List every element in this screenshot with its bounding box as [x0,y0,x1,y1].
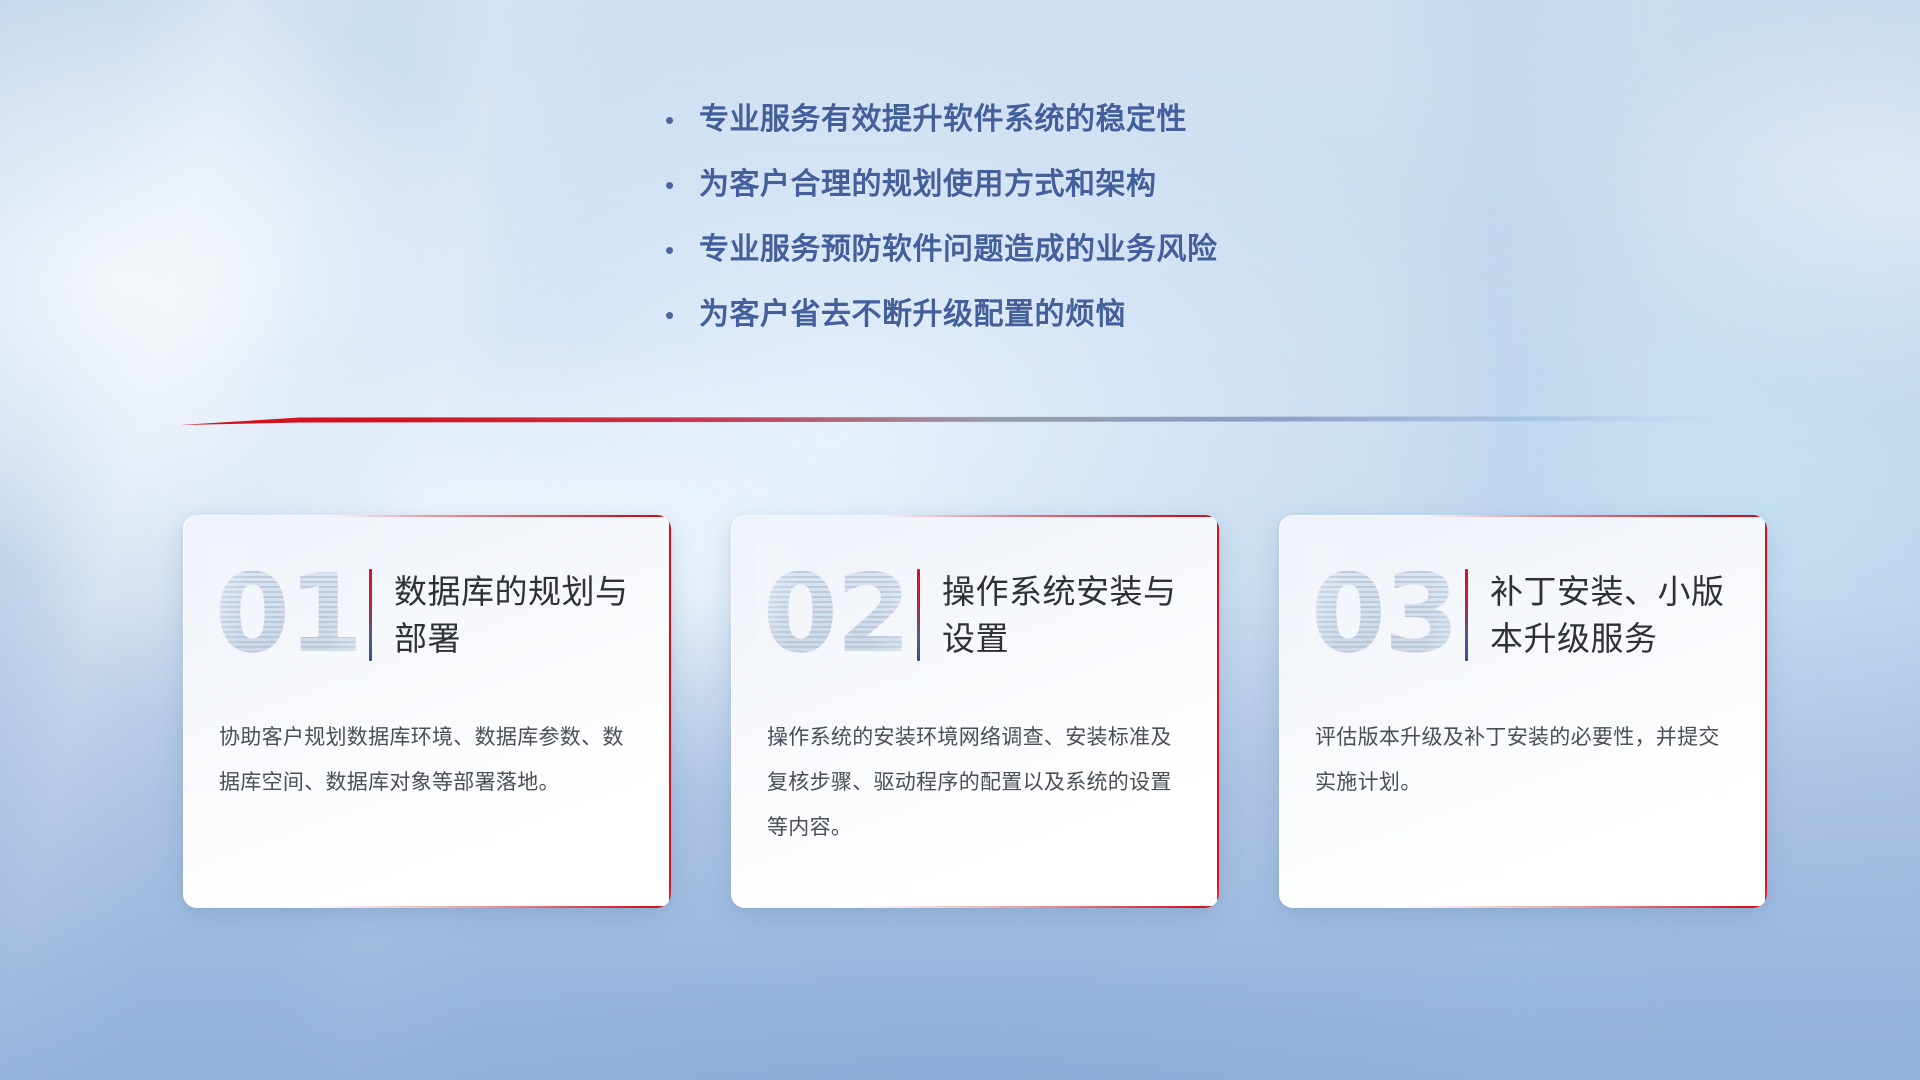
card-index-number: 02 [763,561,909,669]
list-item: • 专业服务预防软件问题造成的业务风险 [665,230,1565,295]
bullet-text: 为客户省去不断升级配置的烦恼 [699,295,1126,335]
list-item: • 为客户合理的规划使用方式和架构 [665,165,1565,230]
slide-canvas: • 专业服务有效提升软件系统的稳定性 • 为客户合理的规划使用方式和架构 • 专… [0,0,1920,1080]
card-header: 02 操作系统安装与设置 [731,549,1219,681]
card-index-number: 01 [215,561,361,669]
card-index-number: 03 [1311,561,1457,669]
service-card[interactable]: 03 补丁安装、小版本升级服务 评估版本升级及补丁安装的必要性，并提交实施计划。 [1279,515,1767,908]
card-header: 03 补丁安装、小版本升级服务 [1279,549,1767,681]
benefits-bullet-list: • 专业服务有效提升软件系统的稳定性 • 为客户合理的规划使用方式和架构 • 专… [665,100,1565,360]
card-body-text: 评估版本升级及补丁安装的必要性，并提交实施计划。 [1315,715,1737,805]
card-body-text: 操作系统的安装环境网络调查、安装标准及复核步骤、驱动程序的配置以及系统的设置等内… [767,715,1189,850]
bullet-dot-icon: • [665,165,699,205]
list-item: • 为客户省去不断升级配置的烦恼 [665,295,1565,360]
card-index-watermark: 02 [761,551,911,679]
card-index-watermark: 03 [1309,551,1459,679]
title-accent-rule [1465,569,1468,661]
divider-shape-icon [180,410,1740,432]
bullet-dot-icon: • [665,100,699,140]
list-item: • 专业服务有效提升软件系统的稳定性 [665,100,1565,165]
bullet-dot-icon: • [665,230,699,270]
service-card[interactable]: 01 数据库的规划与部署 协助客户规划数据库环境、数据库参数、数据库空间、数据库… [183,515,671,908]
card-title: 操作系统安装与设置 [942,568,1194,662]
bullet-dot-icon: • [665,295,699,335]
title-accent-rule [369,569,372,661]
service-card[interactable]: 02 操作系统安装与设置 操作系统的安装环境网络调查、安装标准及复核步骤、驱动程… [731,515,1219,908]
service-card-group: 01 数据库的规划与部署 协助客户规划数据库环境、数据库参数、数据库空间、数据库… [183,515,1767,908]
title-accent-rule [917,569,920,661]
section-divider [180,410,1740,432]
card-index-watermark: 01 [213,551,363,679]
bullet-text: 为客户合理的规划使用方式和架构 [699,165,1157,205]
card-header: 01 数据库的规划与部署 [183,549,671,681]
card-title: 补丁安装、小版本升级服务 [1490,568,1756,662]
bullet-text: 专业服务有效提升软件系统的稳定性 [699,100,1187,140]
bullet-text: 专业服务预防软件问题造成的业务风险 [699,230,1218,270]
card-body-text: 协助客户规划数据库环境、数据库参数、数据库空间、数据库对象等部署落地。 [219,715,641,805]
card-title: 数据库的规划与部署 [394,568,646,662]
